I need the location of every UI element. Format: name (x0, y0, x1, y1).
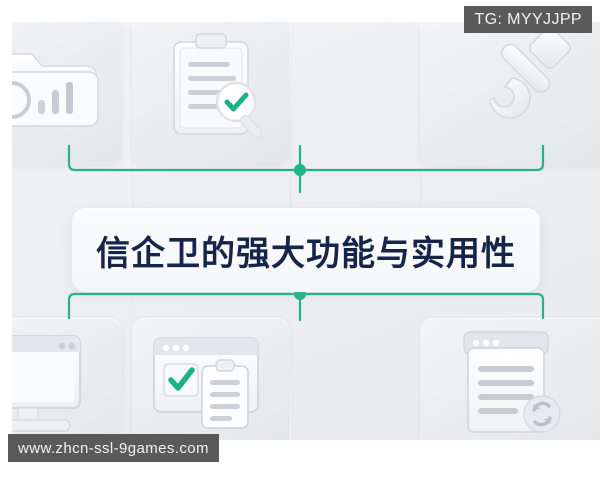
watermark-site: www.zhcn-ssl-9games.com (8, 434, 219, 462)
monitor-window-icon (12, 318, 122, 440)
document-magnifier-check-icon (132, 22, 290, 166)
card-tools[interactable] (420, 22, 600, 166)
card-document-search[interactable] (132, 22, 290, 166)
card-monitor[interactable] (12, 318, 122, 440)
watermark-site-text: www.zhcn-ssl-9games.com (18, 440, 209, 457)
document-sync-icon (420, 318, 600, 440)
content-panel: 信企卫的强大功能与实用性 (12, 22, 600, 440)
wrench-icon (420, 22, 600, 166)
page-title: 信企卫的强大功能与实用性 (96, 226, 516, 275)
browser-check-clipboard-icon (132, 318, 290, 440)
card-analytics[interactable] (12, 22, 122, 166)
bar-chart-icon (12, 22, 122, 166)
poster-stage: 信企卫的强大功能与实用性 TG: MYYJJPP www.zhcn-ssl-9g… (0, 0, 600, 480)
headline-card: 信企卫的强大功能与实用性 (72, 208, 540, 292)
watermark-telegram: TG: MYYJJPP (464, 6, 592, 33)
node-top (294, 164, 306, 176)
card-sync-document[interactable] (420, 318, 600, 440)
card-checklist[interactable] (132, 318, 290, 440)
watermark-telegram-text: TG: MYYJJPP (474, 11, 582, 29)
